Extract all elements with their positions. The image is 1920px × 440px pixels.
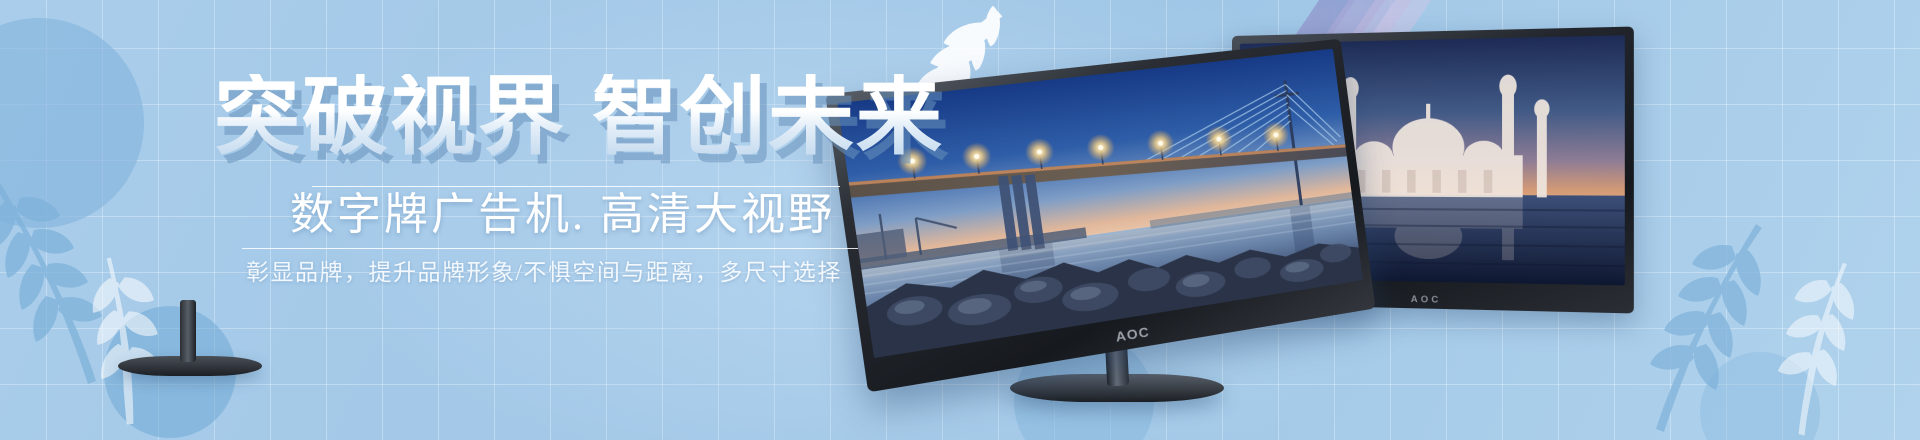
promo-banner: AOC bbox=[0, 0, 1920, 440]
divider-top bbox=[312, 186, 840, 187]
front-monitor: AOC bbox=[880, 38, 1358, 310]
text-block: 突破视界 智创未来 数字牌广告机. 高清大视野 彰显品牌，提升品牌形象/不惧空间… bbox=[0, 0, 900, 440]
tagline: 彰显品牌，提升品牌形象/不惧空间与距离，多尺寸选择 bbox=[246, 258, 842, 288]
divider-bottom bbox=[242, 248, 858, 249]
page-title: 突破视界 智创未来 bbox=[214, 74, 944, 160]
subtitle: 数字牌广告机. 高清大视野 bbox=[290, 189, 835, 242]
